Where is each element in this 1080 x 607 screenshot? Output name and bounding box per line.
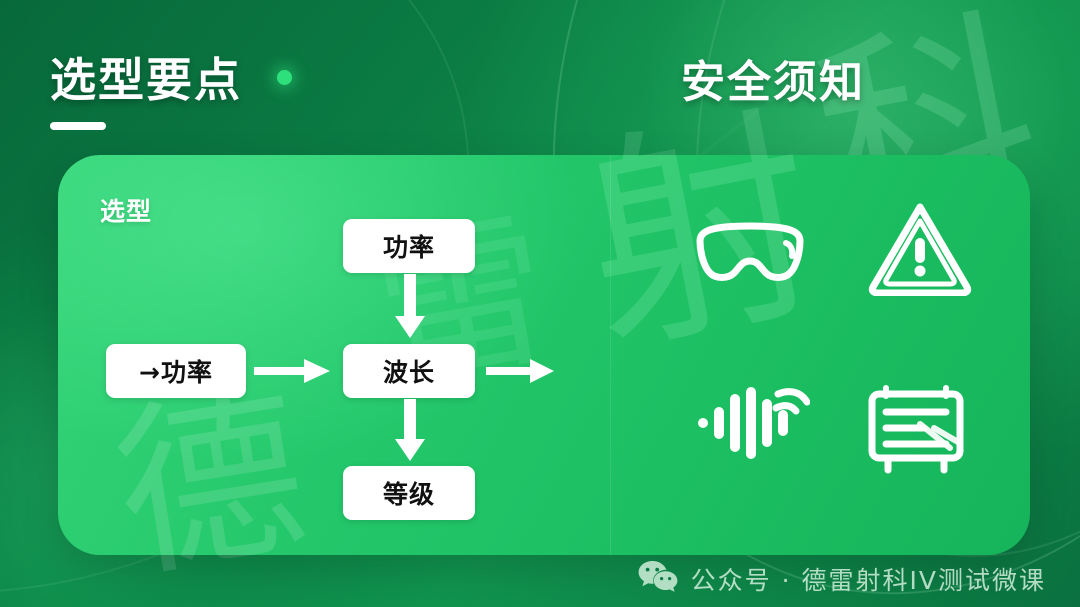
title-underline: [50, 122, 106, 130]
footer-credit: 公众号 · 德雷射科IV测试微课: [638, 560, 1046, 599]
content-card: 射 雷 德 选型 →功率 功率 波长 等级: [58, 155, 1030, 555]
laser-beam-signal-icon: [698, 377, 810, 463]
flow-node-input[interactable]: →功率: [106, 344, 246, 398]
safety-goggles-icon: [688, 217, 812, 293]
safety-icon-group: [610, 155, 1030, 555]
page-title-left: 选型要点: [50, 44, 242, 110]
warning-triangle-icon: [868, 200, 972, 296]
flow-node-wavelength[interactable]: 波长: [343, 344, 475, 398]
footer-text: 公众号 · 德雷射科IV测试微课: [691, 561, 1046, 597]
selection-flowchart: →功率 功率 波长 等级: [58, 155, 610, 555]
title-accent-dot: [277, 70, 292, 85]
warning-sign-board-icon: [862, 380, 970, 474]
flow-arrow-right-icon: [486, 356, 554, 386]
wechat-icon: [638, 560, 678, 599]
footer-bar: 公众号 · 德雷射科IV测试微课: [0, 551, 1080, 607]
flow-arrow-down-icon: [394, 399, 426, 461]
slide-root: 射 科 德 雷 选型要点 安全须知 射 雷 德 选型 →功率 功率 波长 等级: [0, 0, 1080, 607]
flow-node-grade[interactable]: 等级: [343, 466, 475, 520]
page-title-right: 安全须知: [681, 46, 865, 110]
flow-arrow-right-icon: [254, 356, 330, 386]
flow-arrow-down-icon: [394, 274, 426, 338]
flow-node-power[interactable]: 功率: [343, 219, 475, 273]
